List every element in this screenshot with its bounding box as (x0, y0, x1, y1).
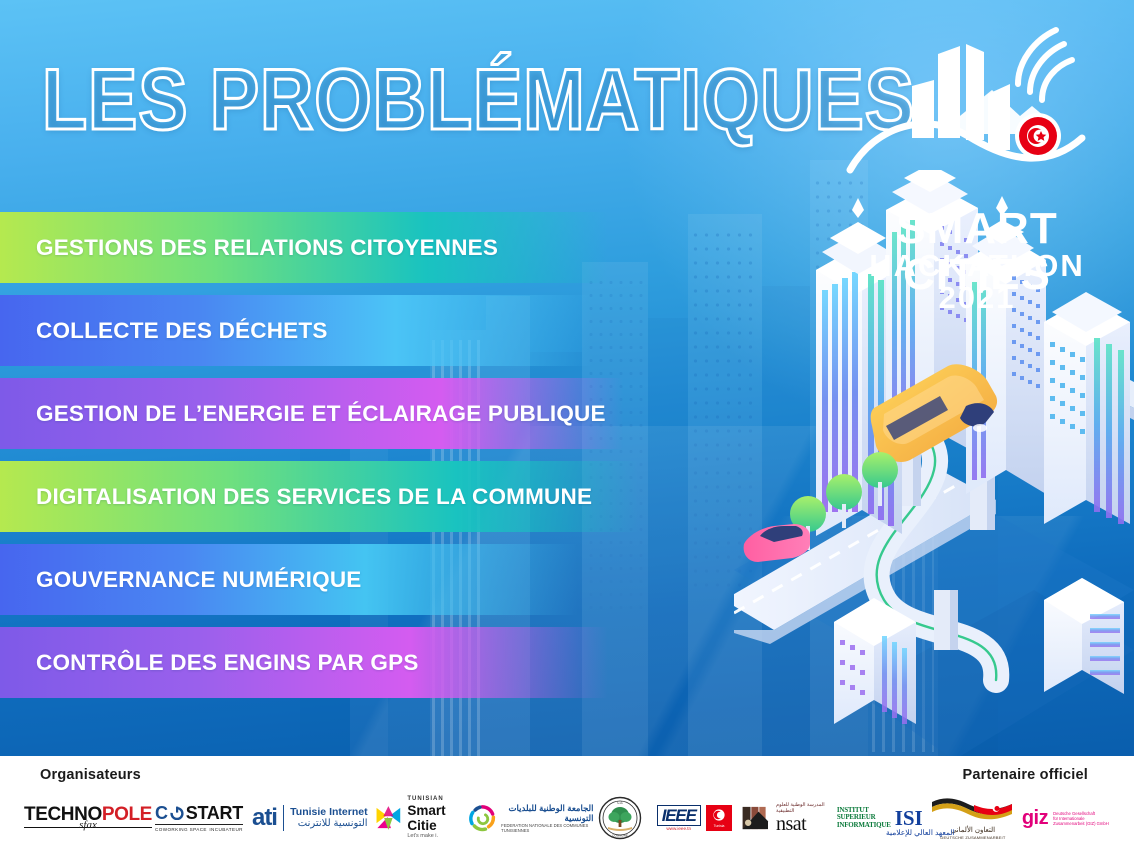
federation-ring-icon (468, 801, 497, 835)
nsat-mark: nsat (776, 814, 830, 834)
isi-mark: ISI (895, 808, 923, 829)
background-sky: LES PROBLÉMATIQUES (0, 0, 1134, 756)
pinwheel-icon (374, 802, 403, 834)
problem-bar[interactable]: DIGITALISATION DES SERVICES DE LA COMMUN… (0, 461, 760, 532)
logo-sub-text: HACKATHON 2021 (842, 250, 1112, 314)
partner-heading: Partenaire officiel (963, 767, 1089, 783)
problem-label: GOUVERNANCE NUMÉRIQUE (0, 567, 361, 593)
wifi-signal-icon (1018, 30, 1072, 100)
federation-communes-logo[interactable]: الجامعة الوطنية للبلديات التونسية FEDERA… (468, 794, 594, 842)
municipality-seal-logo[interactable]: بلدية COMMUNE (594, 794, 648, 842)
problem-bar[interactable]: CONTRÔLE DES ENGINS PAR GPS (0, 627, 760, 698)
tower-far-right (1044, 292, 1130, 524)
german-tunisian-flag-icon (930, 796, 1016, 822)
svg-text:COMMUNE: COMMUNE (612, 834, 628, 838)
nsat-emblem-icon (741, 800, 773, 836)
smart-cities-hackathon-logo: SMART CITIES HACKATHON 2021 (842, 18, 1112, 276)
tunisian-smart-cities-logo[interactable]: TUNISIAN Smart Citie Let's make i. (374, 794, 468, 842)
organisers-heading: Organisateurs (40, 767, 141, 783)
costart-tagline-right: INCUBATEUR (209, 827, 243, 832)
isi-arabic: المعهد العالي للإعلامية (886, 828, 955, 837)
ieee-mark: IEEE (657, 805, 701, 826)
problem-label: COLLECTE DES DÉCHETS (0, 318, 328, 344)
problem-label: CONTRÔLE DES ENGINS PAR GPS (0, 650, 419, 676)
logo-mark (842, 18, 1112, 218)
federation-arabic: الجامعة الوطنية للبلديات التونسية (501, 803, 593, 823)
problems-list: GESTIONS DES RELATIONS CITOYENNES COLLEC… (0, 212, 760, 710)
problem-bar[interactable]: GOUVERNANCE NUMÉRIQUE (0, 544, 760, 615)
problem-label: DIGITALISATION DES SERVICES DE LA COMMUN… (0, 484, 592, 510)
tsc-top: TUNISIAN (407, 796, 467, 803)
co-start-logo[interactable]: C START COWORKING SPACE INCUBATEUR (152, 794, 246, 842)
tsc-slogan: Let's make i. (407, 833, 467, 840)
ati-mark: ati (252, 807, 277, 829)
power-icon (170, 806, 184, 820)
footer: Organisateurs Partenaire officiel TECHNO… (0, 756, 1134, 850)
nsat-logo[interactable]: المدرسة الوطنية للعلوم التطبيقية nsat (741, 794, 830, 842)
tsc-main: Smart Citie (407, 803, 467, 833)
costart-wordmark: C START (155, 804, 243, 822)
poster-root: LES PROBLÉMATIQUES (0, 0, 1134, 850)
costart-start: START (186, 804, 243, 822)
problem-label: GESTION DE L’ENERGIE ET ÉCLAIRAGE PUBLIQ… (0, 401, 606, 427)
problem-bar[interactable]: COLLECTE DES DÉCHETS (0, 295, 760, 366)
svg-text:بلدية: بلدية (617, 801, 623, 805)
tunisia-flag-icon (1015, 113, 1061, 159)
giz-line-3: Zusammenarbeit (GIZ) GmbH (1053, 821, 1109, 826)
problem-bar[interactable]: GESTIONS DES RELATIONS CITOYENNES (0, 212, 760, 283)
page-title: LES PROBLÉMATIQUES (42, 52, 915, 148)
ieee-tunisia-badge-icon: Tunisia (706, 805, 732, 831)
costart-tagline-left: COWORKING SPACE (155, 827, 207, 832)
footer-logos: TECHNOPOLE sfax C START (24, 792, 1114, 844)
ati-line-ar: التونسية للانترنت (290, 818, 367, 830)
svg-text:Tunisia: Tunisia (713, 824, 724, 828)
costart-c: C (155, 804, 168, 822)
problem-bar[interactable]: GESTION DE L’ENERGIE ET ÉCLAIRAGE PUBLIQ… (0, 378, 760, 449)
tree-seal-icon: بلدية COMMUNE (598, 796, 642, 840)
ati-logo[interactable]: ati Tunisie Internet التونسية للانترنت (246, 794, 374, 842)
giz-logo[interactable]: giz Deutsche Gesellschaft für Internatio… (1017, 794, 1114, 842)
isi-line-3: INFORMATIQUE (837, 822, 891, 830)
giz-mark: giz (1022, 808, 1048, 828)
ati-line-fr: Tunisie Internet (290, 806, 367, 818)
ieee-logo[interactable]: IEEE www.ieee.tn Tunisia (647, 794, 741, 842)
ieee-url: www.ieee.tn (657, 826, 701, 832)
technopole-sfax-logo[interactable]: TECHNOPOLE sfax (24, 794, 152, 842)
federation-french: FEDERATION NATIONALE DES COMMUNES TUNISI… (501, 823, 593, 833)
technopole-red: POLE (102, 804, 152, 825)
problem-label: GESTIONS DES RELATIONS CITOYENNES (0, 235, 498, 261)
